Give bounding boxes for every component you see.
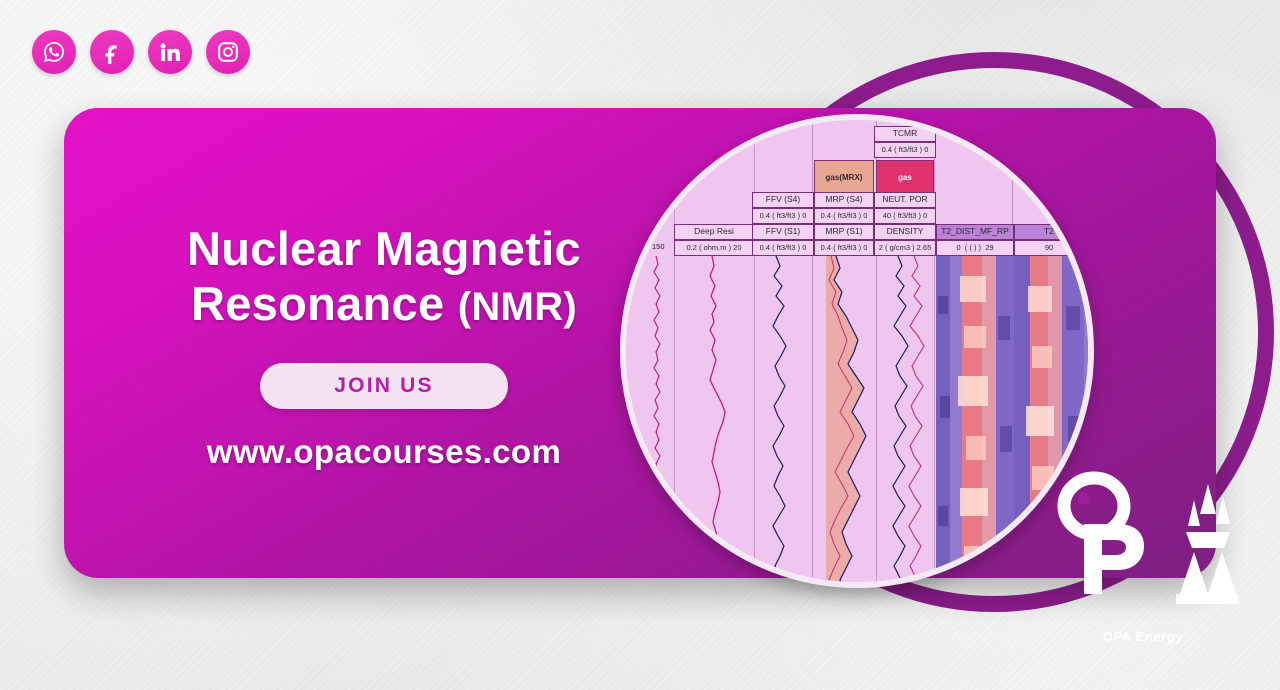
header-mrp-s1-label: MRP (S1) [814,224,874,240]
header-t2-label: T2 [1014,224,1084,240]
header-density-scale: 2 ( g/cm3 ) 2.65 [874,240,936,256]
join-us-button[interactable]: JOIN US [260,363,508,409]
social-link-whatsapp[interactable] [32,30,76,74]
facebook-icon [100,40,124,64]
curve-density [909,256,924,588]
curve-deep-resistivity [710,256,725,588]
header-deep-resi-scale: 0.2 ( ohm.m ) 20 [674,240,754,256]
header-tcmr-scale: 0.4 ( ft3/ft3 ) 0 [874,142,936,158]
header-t2-scale: 90 [1014,240,1084,256]
title-line-2: Resonance [191,277,444,330]
header-mrp-s1-scale: 0.4 ( ft3/ft3 ) 0 [814,240,874,256]
header-ffv-s4-label: FFV (S4) [752,192,814,208]
instagram-icon [216,40,240,64]
header-deep-resi-label: Deep Resi [674,224,754,240]
whatsapp-icon [42,40,66,64]
linkedin-icon [158,40,182,64]
opa-logo-mark [1048,444,1238,624]
promo-card-content: Nuclear Magnetic Resonance (NMR) JOIN US… [64,108,704,578]
title-line-1: Nuclear Magnetic [187,222,581,275]
flag-gas-mrx: gas(MRX) [814,160,874,194]
social-link-linkedin[interactable] [148,30,192,74]
social-links [32,30,250,74]
website-url[interactable]: www.opacourses.com [207,433,561,471]
header-mrp-s4-scale: 0.4 ( ft3/ft3 ) 0 [814,208,874,224]
well-log-surface: TCMR 0.4 ( ft3/ft3 ) 0 gas(MRX) gas FFV … [626,120,1094,588]
well-log-image: TCMR 0.4 ( ft3/ft3 ) 0 gas(MRX) gas FFV … [620,114,1094,588]
curve-deep-resistivity-shallow [654,256,660,588]
social-link-instagram[interactable] [206,30,250,74]
curve-neutron-porosity [893,256,908,588]
header-t2-dist-mf-rp-label: T2_DIST_MF_RP [936,224,1014,240]
header-mrp-s4-label: MRP (S4) [814,192,874,208]
page-title: Nuclear Magnetic Resonance (NMR) [187,221,581,332]
title-abbreviation: (NMR) [458,285,577,329]
header-ffv-s1-scale: 0.4 ( ft3/ft3 ) 0 [752,240,814,256]
curve-ffv-s1 [773,256,786,588]
header-neut-por-scale: 40 ( ft3/ft3 ) 0 [874,208,936,224]
flag-gas: gas [876,160,934,194]
header-t2-dist-mf-rp-scale: 0 ( ( ) ) 29 [936,240,1014,256]
opa-energy-logo: OPA Energy [1048,444,1238,644]
logo-caption: OPA Energy [1103,629,1183,644]
social-link-facebook[interactable] [90,30,134,74]
header-neut-por-label: NEUT. POR [874,192,936,208]
header-ffv-s4-scale: 0.4 ( ft3/ft3 ) 0 [752,208,814,224]
header-tcmr-label: TCMR [874,126,936,142]
header-deep-resi-outer-left: 150 [652,242,665,251]
t2-dist-mf-rp-heatmap [936,256,1014,588]
header-ffv-s1-label: FFV (S1) [752,224,814,240]
header-density-label: DENSITY [874,224,936,240]
